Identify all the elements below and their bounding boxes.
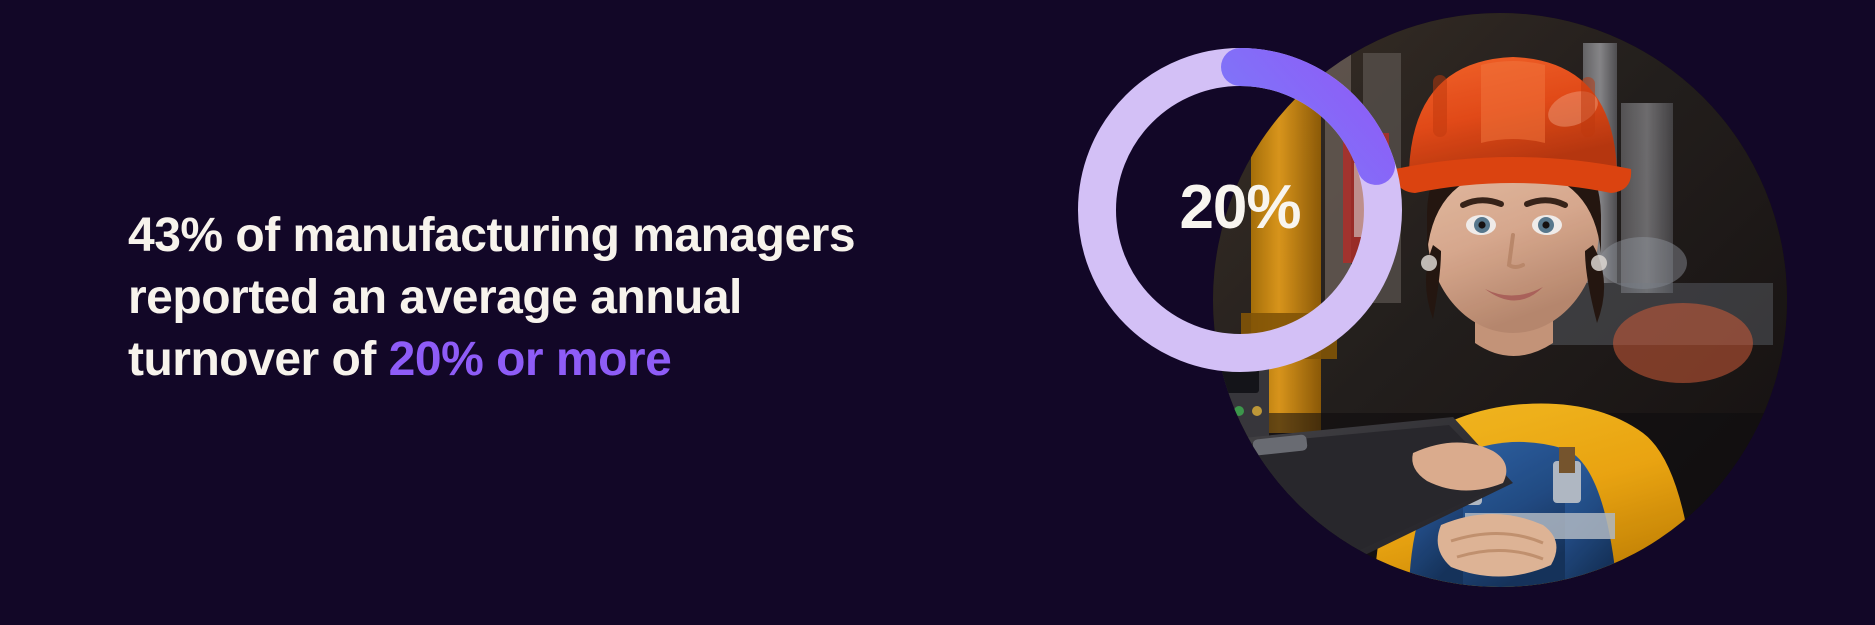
infographic-banner: 20% 43% of manufacturing managers report… <box>0 0 1875 625</box>
donut-svg <box>1078 48 1402 372</box>
headline-accent-text: 20% or more <box>389 333 672 386</box>
headline-line-3: turnover of 20% or more <box>128 329 1028 391</box>
headline-block: 43% of manufacturing managers reported a… <box>128 205 1028 391</box>
headline-line-1: 43% of manufacturing managers <box>128 205 1028 267</box>
headline-line-3-prefix: turnover of <box>128 333 389 386</box>
turnover-donut-chart <box>1078 48 1402 372</box>
headline-line-2: reported an average annual <box>128 267 1028 329</box>
